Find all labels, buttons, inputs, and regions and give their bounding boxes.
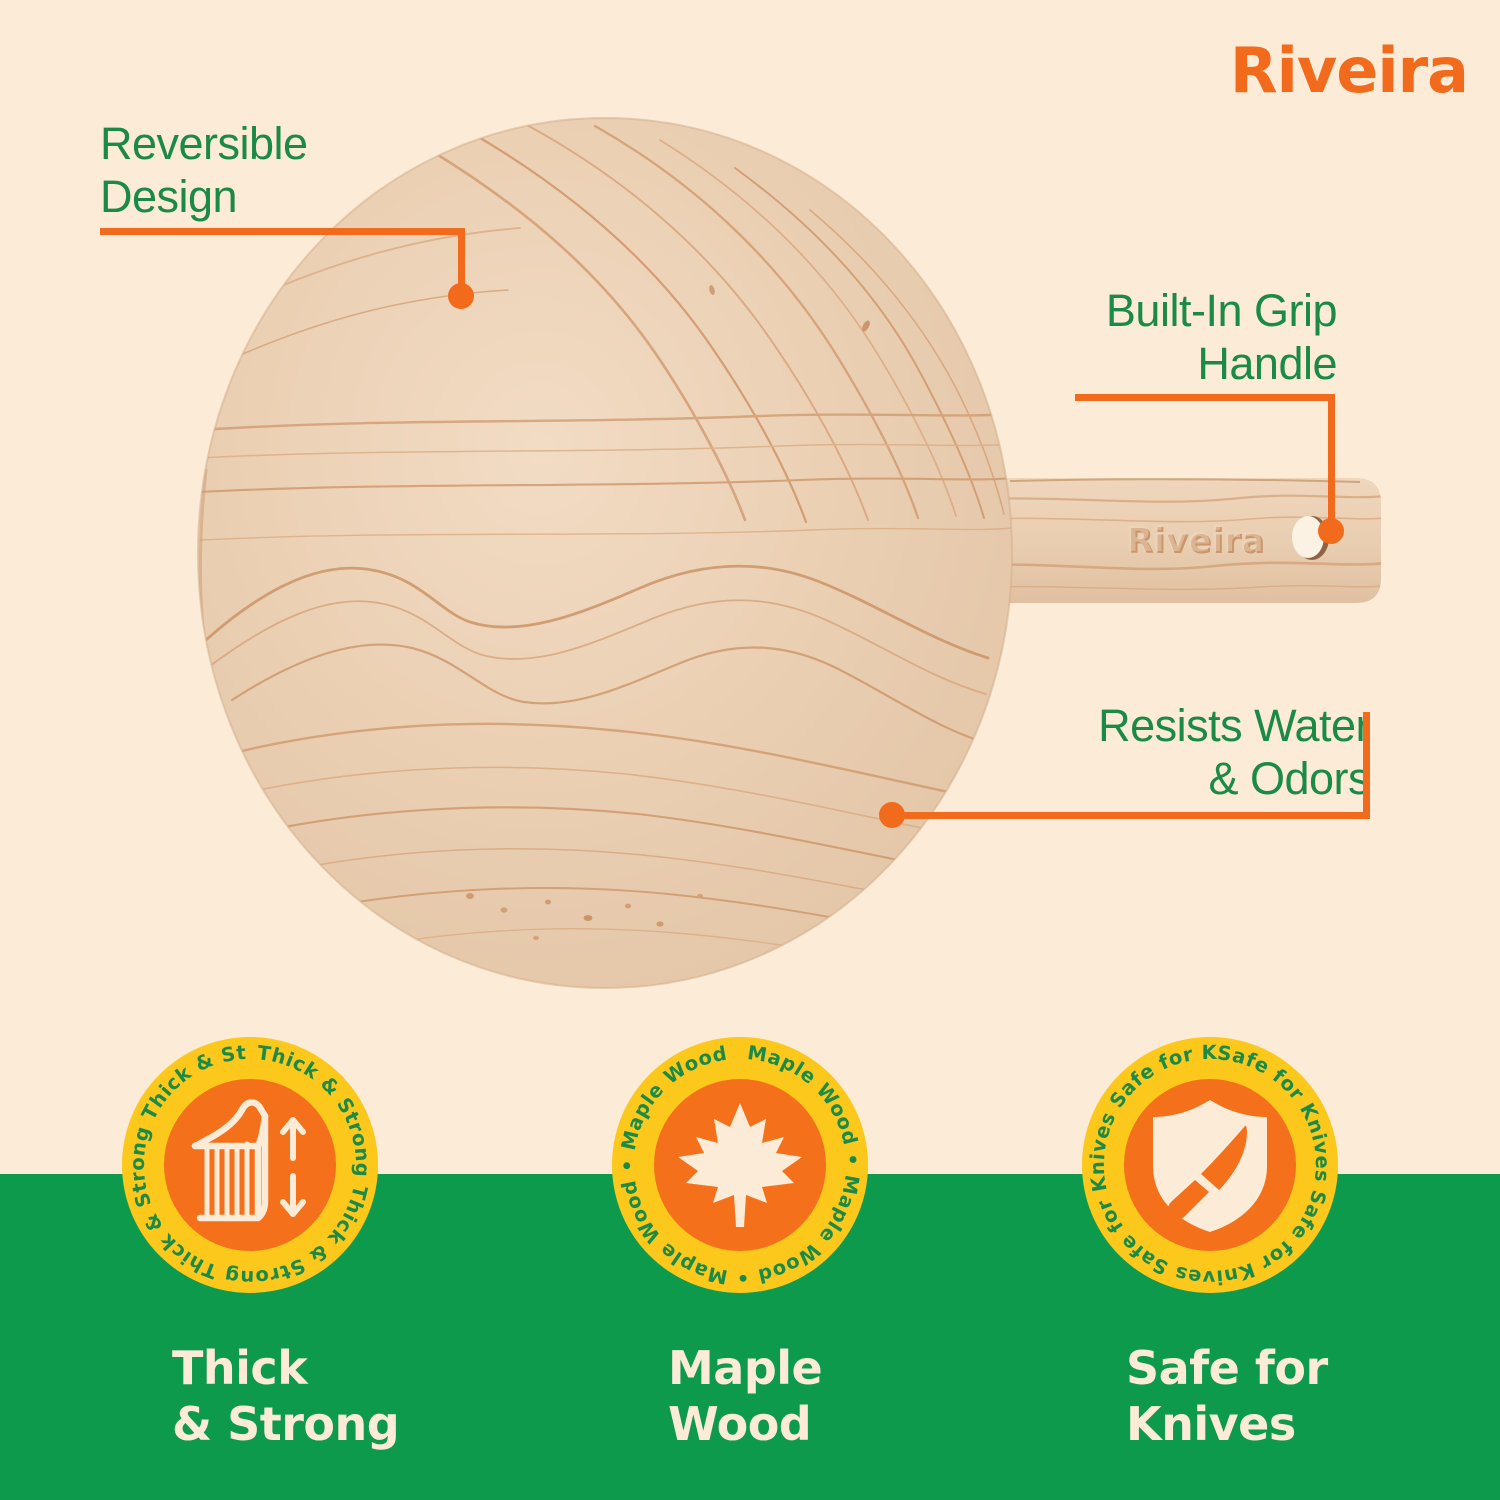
callout-dot-grip-handle: [1318, 518, 1344, 544]
badge-caption-thick-and-strong: Thick & Strong: [172, 1340, 399, 1452]
shield-knife-icon: [1124, 1079, 1296, 1251]
board-thickness-icon: [164, 1079, 336, 1251]
callout-line-handle-vertical: [1328, 394, 1335, 526]
engraved-brand-logo: Riveira Riveira: [1126, 520, 1266, 562]
callout-line-reversible-horizontal: [100, 228, 465, 235]
callout-dot-resists-water: [879, 802, 905, 828]
callout-label-grip-handle: Built-In Grip Handle: [1075, 285, 1337, 390]
callout-line-handle-horizontal: [1075, 394, 1335, 401]
badge-caption-safe-for-knives: Safe for Knives: [1126, 1340, 1328, 1452]
badge-caption-maple-wood: Maple Wood: [668, 1340, 822, 1452]
svg-text:Riveira: Riveira: [1126, 520, 1264, 560]
callout-line-water-horizontal: [896, 812, 1370, 819]
callout-dot-reversible-design: [448, 283, 474, 309]
maple-leaf-icon: [654, 1079, 826, 1251]
badge-safe-for-knives: Safe for Knives Safe for Knives Safe for…: [1082, 1037, 1338, 1293]
callout-line-water-vertical: [1363, 712, 1370, 819]
callout-line-reversible-vertical: [458, 228, 465, 290]
callout-label-reversible-design: Reversible Design: [100, 118, 308, 223]
board-disc: [198, 118, 1012, 988]
badge-thick-and-strong: Thick & Strong Thick & Strong Thick & St…: [122, 1037, 378, 1293]
callout-label-resists-water: Resists Water & Odors: [1030, 700, 1370, 805]
feature-badges: Thick & Strong Thick & Strong Thick & St…: [0, 1037, 1500, 1297]
badge-maple-wood: Maple Wood • Maple Wood • Maple Wood • M…: [612, 1037, 868, 1293]
infographic-stage: Riveira: [0, 0, 1500, 1500]
